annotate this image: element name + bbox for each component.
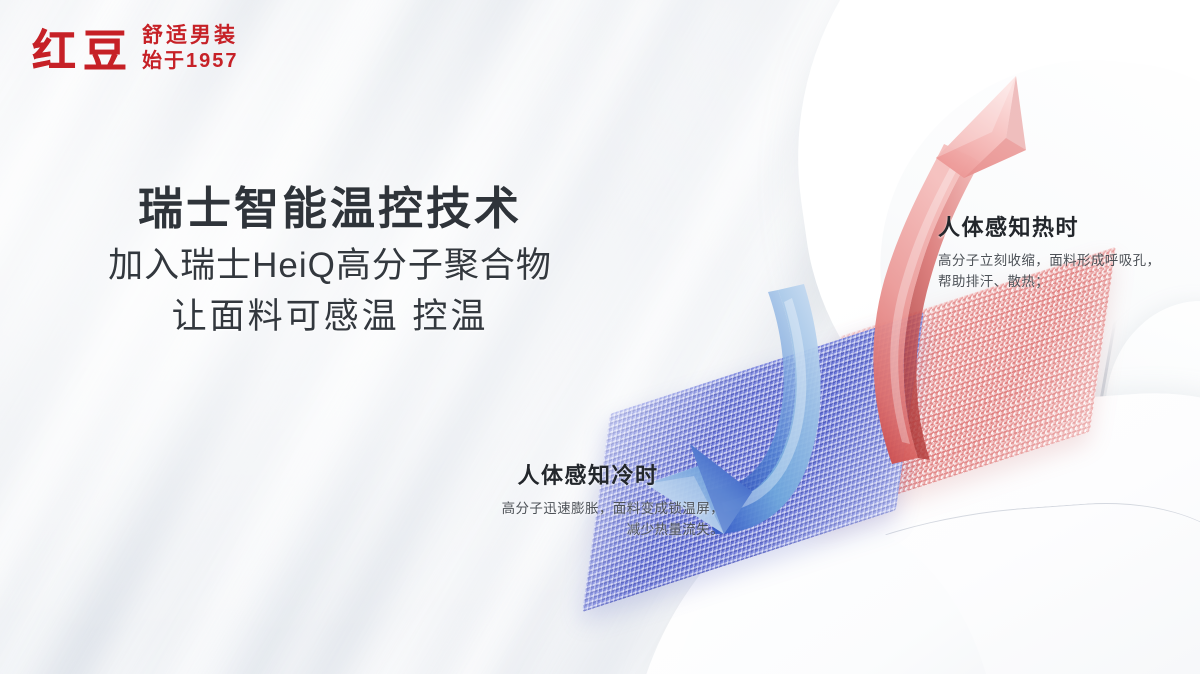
callout-hot-body-line-1: 高分子立刻收缩，面料形成呼吸孔， (938, 250, 1188, 272)
brand-tagline-line-2: 始于1957 (142, 50, 239, 72)
brand-logo-char-2: 豆 (83, 30, 128, 74)
callout-hot-body: 高分子立刻收缩，面料形成呼吸孔， 帮助排汗、散热； (938, 250, 1188, 294)
brand-logo[interactable]: 红 豆 舒适男装 始于1957 (32, 24, 239, 74)
brand-logo-char-1: 红 (32, 30, 77, 74)
brand-tagline-line-1: 舒适男装 (142, 24, 239, 47)
callout-hot-title: 人体感知热时 (938, 214, 1188, 243)
callout-hot-body-line-2: 帮助排汗、散热； (938, 271, 1188, 293)
headline-tertiary: 让面料可感温 控温 (90, 292, 570, 343)
poster-canvas: 红 豆 舒适男装 始于1957 瑞士智能温控技术 加入瑞士HeiQ高分子聚合物 … (0, 0, 1200, 674)
callout-hot: 人体感知热时 高分子立刻收缩，面料形成呼吸孔， 帮助排汗、散热； (938, 214, 1188, 293)
brand-logo-mark: 红 豆 (32, 30, 128, 74)
callout-cold-body-line-1: 高分子迅速膨胀，面料变成锁温屏， (452, 498, 724, 520)
callout-cold-body: 高分子迅速膨胀，面料变成锁温屏， 减少热量流失。 (452, 498, 724, 542)
callout-cold-body-line-2: 减少热量流失。 (452, 519, 724, 541)
brand-tagline: 舒适男装 始于1957 (142, 24, 239, 74)
headline-primary: 瑞士智能温控技术 (90, 182, 570, 235)
headline-block: 瑞士智能温控技术 加入瑞士HeiQ高分子聚合物 让面料可感温 控温 (90, 182, 570, 343)
headline-secondary: 加入瑞士HeiQ高分子聚合物 (90, 241, 570, 292)
callout-cold: 人体感知冷时 高分子迅速膨胀，面料变成锁温屏， 减少热量流失。 (452, 462, 724, 541)
callout-cold-title: 人体感知冷时 (452, 462, 724, 491)
